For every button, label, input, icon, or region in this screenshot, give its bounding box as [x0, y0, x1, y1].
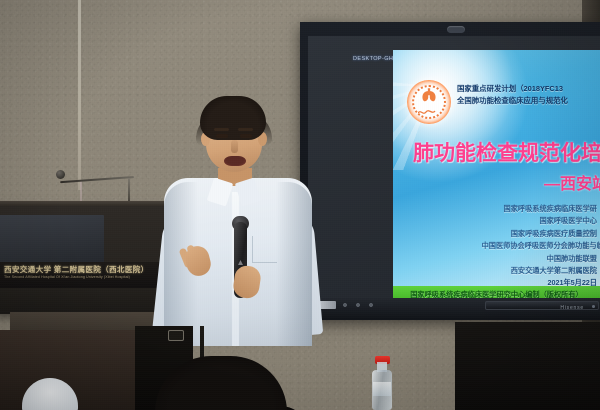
podium-monitor — [0, 215, 104, 267]
lungs-icon — [419, 87, 439, 103]
slide-header-line2: 全国肺功能检查临床应用与规范化 — [457, 95, 600, 107]
tv-brand-logo: Hisense — [560, 305, 584, 311]
bottle-label — [373, 382, 391, 396]
tv-screen: DESKTOP-GHDBHMJ 国家重点研 — [308, 36, 600, 304]
wall-seam — [78, 0, 81, 190]
slide-subtitle: —西安站 — [413, 170, 600, 194]
organizer-line: 国家呼吸疾病医疗质量控制 — [393, 228, 597, 240]
bag-strap-buckle — [168, 330, 184, 341]
slide-main-title: 肺功能检查规范化培训 — [413, 142, 600, 166]
speaker-eye-left — [216, 134, 228, 138]
foreground-dark-table — [455, 322, 600, 410]
tv-indicator-lights — [342, 303, 382, 307]
speaker-person — [148, 96, 330, 346]
speaker-mouth — [224, 156, 246, 166]
conference-photo: DESKTOP-GHDBHMJ 国家重点研 — [0, 0, 600, 410]
speaker-eyebrow-right — [238, 128, 253, 131]
wave-icon — [418, 108, 440, 115]
presentation-slide: 国家重点研发计划（2018YFC13 全国肺功能检查临床应用与规范化 肺功能检查… — [393, 50, 600, 304]
organizer-line: 中国肺功能联盟 — [393, 253, 597, 265]
slide-header-line1: 国家重点研发计划（2018YFC13 — [457, 83, 600, 95]
speaker-eyebrow-left — [214, 128, 229, 131]
organizer-line: 国家呼吸系统疾病临床医学研 — [393, 203, 597, 215]
wall-mounted-television: DESKTOP-GHDBHMJ 国家重点研 — [300, 22, 600, 320]
shirt-shadow-right — [276, 182, 312, 346]
speaker-hair — [200, 96, 266, 140]
lung-health-emblem-icon — [407, 80, 451, 124]
shirt-pocket — [252, 236, 277, 263]
tv-camera-module — [447, 26, 465, 33]
slide-organizer-list: 国家呼吸系统疾病临床医学研 国家呼吸医学中心 国家呼吸疾病医疗质量控制 中国医师… — [393, 203, 597, 290]
speaker-nose — [231, 140, 238, 153]
organizer-line: 国家呼吸医学中心 — [393, 215, 597, 227]
organizer-line: 西安交通大学第二附属医院 — [393, 265, 597, 277]
speaker-eye-right — [240, 134, 252, 138]
organizer-line: 中国医师协会呼吸医师分会肺功能与临床 — [393, 240, 600, 252]
podium-microphone-head — [56, 170, 65, 179]
tv-status-led — [592, 305, 595, 308]
slide-header-text: 国家重点研发计划（2018YFC13 全国肺功能检查临床应用与规范化 — [457, 83, 600, 106]
